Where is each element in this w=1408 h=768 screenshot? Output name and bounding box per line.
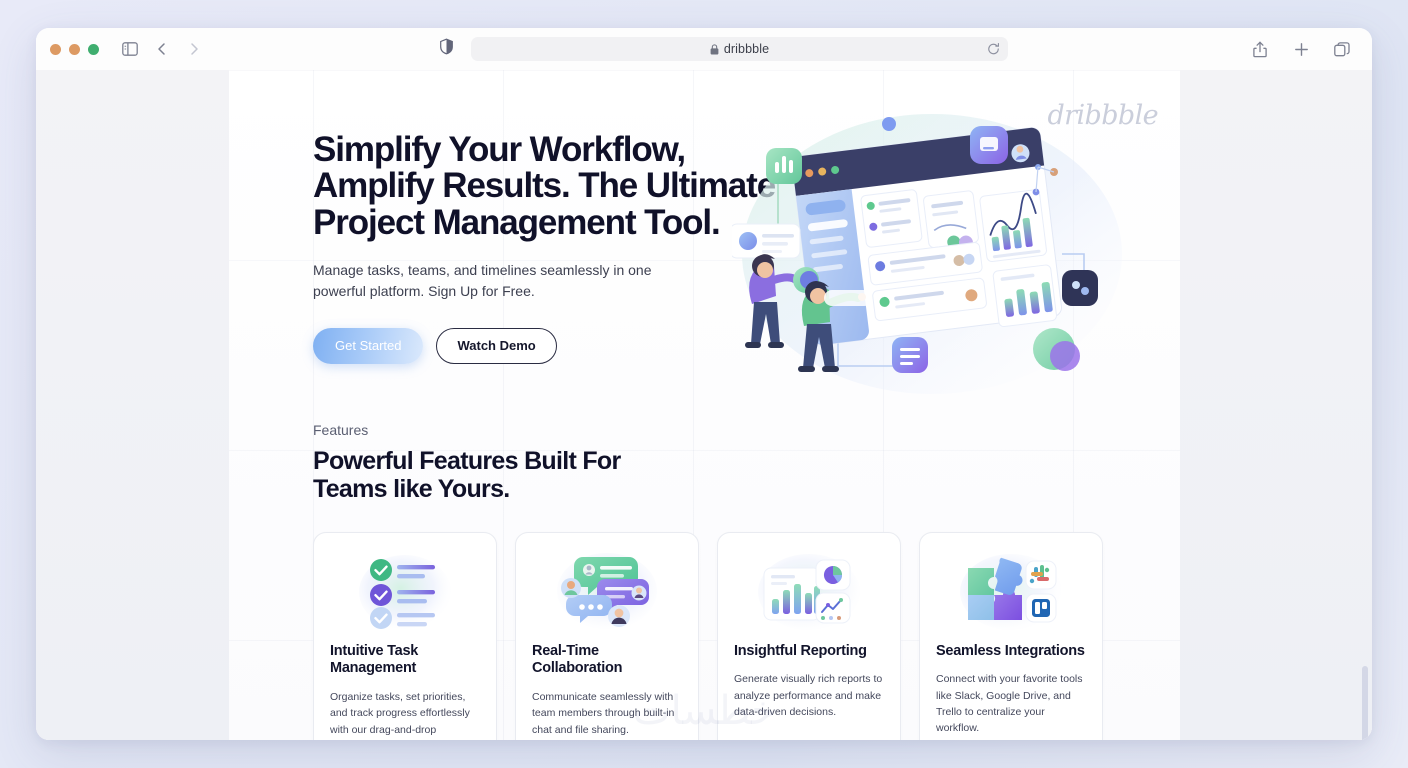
checklist-icon — [330, 551, 480, 633]
get-started-button[interactable]: Get Started — [313, 328, 423, 364]
feature-card-description: Communicate seamlessly with team members… — [532, 689, 682, 738]
page-scrollbar[interactable] — [1361, 70, 1369, 740]
browser-window: dribbble — [36, 28, 1372, 740]
hero-title-line-3: Project Management Tool. — [313, 203, 720, 242]
feature-card-integrations[interactable]: Seamless Integrations Connect with your … — [919, 532, 1103, 740]
address-bar-content: dribbble — [710, 42, 769, 56]
navigation-controls — [116, 36, 208, 62]
features-title: Powerful Features Built For Teams like Y… — [313, 447, 643, 503]
tabs-overview-icon[interactable] — [1328, 36, 1356, 62]
new-tab-icon[interactable] — [1287, 36, 1315, 62]
reload-icon[interactable] — [987, 43, 1000, 56]
minimize-window-button[interactable] — [69, 44, 80, 55]
close-window-button[interactable] — [50, 44, 61, 55]
page-left-gutter — [36, 70, 229, 740]
features-title-line-2: Teams like Yours. — [313, 475, 510, 503]
forward-icon[interactable] — [180, 36, 208, 62]
charts-icon — [734, 551, 884, 633]
maximize-window-button[interactable] — [88, 44, 99, 55]
feature-card-task-management[interactable]: Intuitive Task Management Organize tasks… — [313, 532, 497, 740]
puzzle-integrations-icon — [936, 551, 1086, 633]
lock-icon — [710, 44, 719, 55]
scrollbar-thumb[interactable] — [1362, 666, 1368, 740]
privacy-shield-icon[interactable] — [440, 39, 453, 60]
website-page: dribbble Simplify Your Workflow, Amplify… — [229, 70, 1180, 740]
feature-card-title: Intuitive Task Management — [330, 643, 480, 678]
hero-title-line-2: Amplify Results. The Ultimate — [313, 166, 775, 205]
sidebar-toggle-icon[interactable] — [116, 36, 144, 62]
feature-card-description: Connect with your favorite tools like Sl… — [936, 671, 1086, 736]
features-section: Features Powerful Features Built For Tea… — [229, 364, 1180, 740]
hero-illustration-icon — [732, 104, 1124, 404]
share-icon[interactable] — [1246, 36, 1274, 62]
browser-viewport: dribbble Simplify Your Workflow, Amplify… — [36, 70, 1372, 740]
back-icon[interactable] — [148, 36, 176, 62]
chat-bubbles-icon — [532, 551, 682, 633]
address-bar[interactable]: dribbble — [471, 37, 1008, 61]
feature-card-title: Real-Time Collaboration — [532, 643, 682, 678]
feature-card-description: Organize tasks, set priorities, and trac… — [330, 689, 480, 740]
features-eyebrow: Features — [313, 422, 1180, 438]
features-title-line-1: Powerful Features Built For — [313, 447, 621, 475]
window-controls — [50, 44, 99, 55]
url-text: dribbble — [724, 42, 769, 56]
illo-dot — [882, 117, 896, 131]
feature-card-title: Insightful Reporting — [734, 643, 884, 661]
feature-cards-row: Intuitive Task Management Organize tasks… — [313, 532, 1180, 740]
hero-subtitle: Manage tasks, teams, and timelines seaml… — [313, 260, 653, 303]
page-right-gutter — [1172, 70, 1372, 740]
feature-card-description: Generate visually rich reports to analyz… — [734, 671, 884, 720]
hero-section: Simplify Your Workflow, Amplify Results.… — [229, 70, 1180, 364]
feature-card-collaboration[interactable]: Real-Time Collaboration Communicate seam… — [515, 532, 699, 740]
browser-toolbar: dribbble — [36, 28, 1372, 70]
hero-title-line-1: Simplify Your Workflow, — [313, 130, 685, 169]
watch-demo-button[interactable]: Watch Demo — [436, 328, 556, 364]
toolbar-actions — [1246, 36, 1356, 62]
feature-card-reporting[interactable]: Insightful Reporting Generate visually r… — [717, 532, 901, 740]
page-title: Simplify Your Workflow, Amplify Results.… — [313, 132, 783, 241]
feature-card-title: Seamless Integrations — [936, 643, 1086, 661]
